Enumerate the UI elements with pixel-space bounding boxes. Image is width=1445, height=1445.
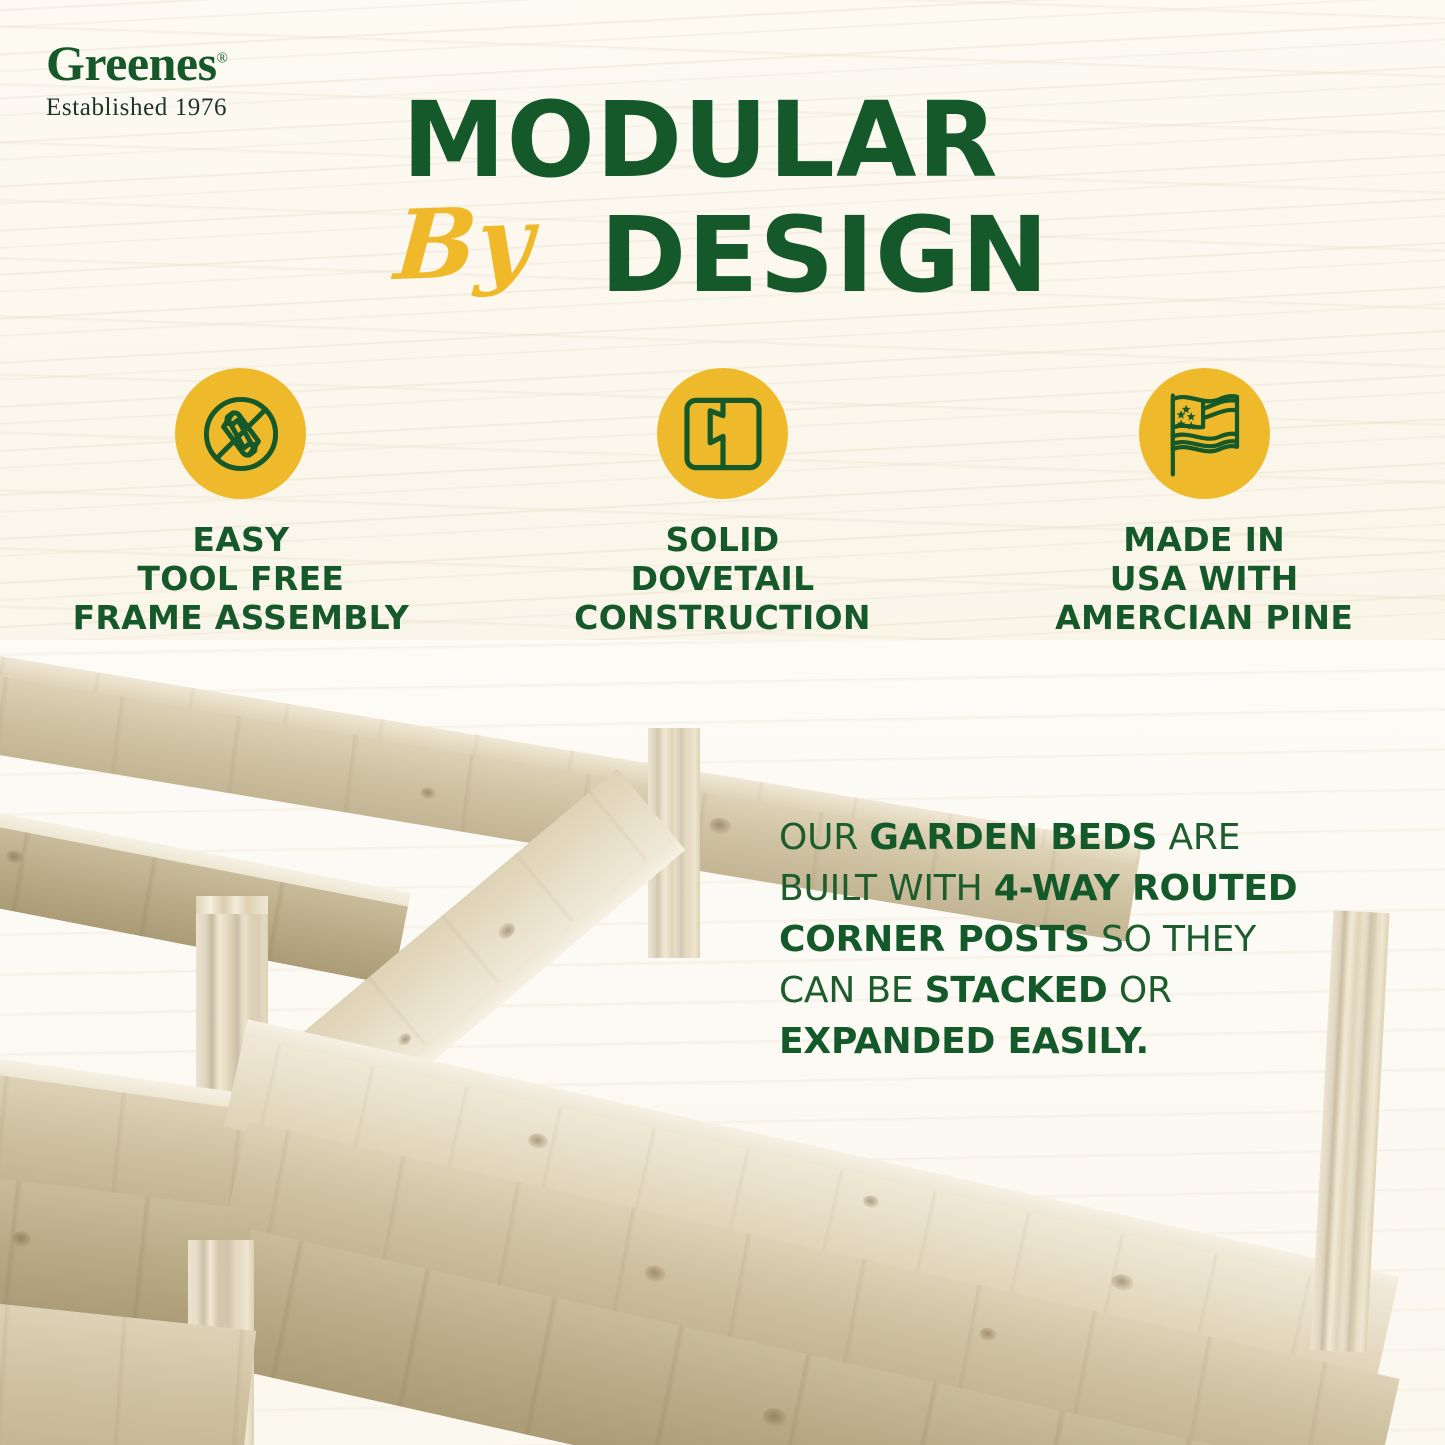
dovetail-joint-icon bbox=[683, 396, 763, 472]
body-copy-emphasis: EXPANDED EASILY. bbox=[779, 1021, 1149, 1062]
brand-logo: Greenes® Established 1976 bbox=[46, 38, 346, 122]
infographic-canvas: Greenes® Established 1976 MODULAR By DES… bbox=[0, 0, 1445, 1445]
no-tools-icon bbox=[193, 386, 289, 482]
brand-tagline: Established 1976 bbox=[46, 94, 346, 122]
feature-icon-badge bbox=[1139, 368, 1270, 499]
body-copy-plain: OUR bbox=[779, 817, 869, 858]
headline-line-design: DESIGN bbox=[600, 203, 1049, 307]
feature-list: EASY TOOL FREE FRAME ASSEMBLY SOLID DOVE… bbox=[0, 368, 1445, 638]
feature-item-made-in-usa: MADE IN USA WITH AMERCIAN PINE bbox=[963, 368, 1445, 638]
feature-label: EASY TOOL FREE FRAME ASSEMBLY bbox=[73, 521, 409, 638]
body-copy-plain: OR bbox=[1108, 970, 1172, 1011]
body-copy: OUR GARDEN BEDS ARE BUILT WITH 4-WAY ROU… bbox=[779, 812, 1319, 1068]
feature-icon-badge bbox=[657, 368, 788, 499]
feature-icon-badge bbox=[175, 368, 306, 499]
feature-item-dovetail: SOLID DOVETAIL CONSTRUCTION bbox=[482, 368, 964, 638]
usa-flag-icon bbox=[1158, 390, 1250, 478]
feature-label: MADE IN USA WITH AMERCIAN PINE bbox=[1055, 521, 1353, 638]
page-title: MODULAR By DESIGN bbox=[392, 88, 1092, 318]
feature-label: SOLID DOVETAIL CONSTRUCTION bbox=[574, 521, 871, 638]
body-copy-emphasis: STACKED bbox=[925, 970, 1108, 1011]
body-copy-emphasis: GARDEN BEDS bbox=[869, 817, 1157, 858]
brand-name: Greenes® bbox=[46, 38, 227, 88]
headline-line-modular: MODULAR bbox=[402, 88, 999, 192]
feature-item-tool-free: EASY TOOL FREE FRAME ASSEMBLY bbox=[0, 368, 482, 638]
body-copy-text: OUR GARDEN BEDS ARE BUILT WITH 4-WAY ROU… bbox=[779, 817, 1297, 1062]
headline-script-by: By bbox=[392, 193, 536, 294]
registered-trademark-icon: ® bbox=[217, 50, 228, 66]
brand-name-text: Greenes bbox=[46, 35, 217, 91]
